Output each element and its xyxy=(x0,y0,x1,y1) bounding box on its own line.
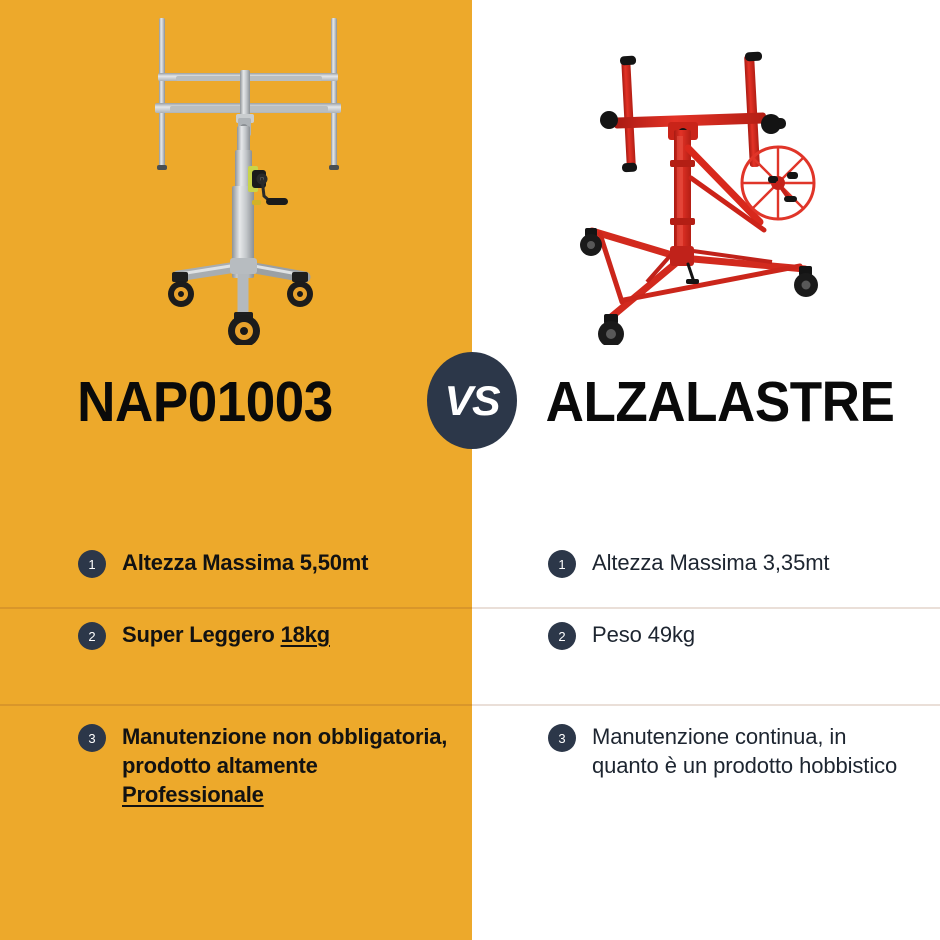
feature-number-badge: 3 xyxy=(548,724,576,752)
feature-cell-left: 3 Manutenzione non obbligatoria, prodott… xyxy=(78,722,458,809)
feature-text-underlined: 18kg xyxy=(281,622,330,647)
feature-cell-left: 1 Altezza Massima 5,50mt xyxy=(78,548,458,578)
feature-row: 3 Manutenzione non obbligatoria, prodott… xyxy=(0,722,940,842)
feature-row: 1 Altezza Massima 5,50mt 1 Altezza Massi… xyxy=(0,548,940,607)
winch-wheel xyxy=(742,147,814,219)
divider-segment-left xyxy=(0,607,472,609)
divider-segment-right xyxy=(472,704,940,706)
divider-segment-right xyxy=(472,607,940,609)
feature-number-badge: 1 xyxy=(78,550,106,578)
comparison-infographic: NAP01003 ALZALASTRE VS 1 Altezza Massima… xyxy=(0,0,940,940)
feature-cell-right: 1 Altezza Massima 3,35mt xyxy=(548,548,918,578)
feature-text-left: Super Leggero 18kg xyxy=(122,620,330,649)
feature-cell-left: 2 Super Leggero 18kg xyxy=(78,620,458,650)
divider-segment-left xyxy=(0,704,472,706)
feature-text-right: Manutenzione continua, in quanto è un pr… xyxy=(592,722,918,780)
feature-text-underlined: Professionale xyxy=(122,782,264,807)
feature-cell-right: 3 Manutenzione continua, in quanto è un … xyxy=(548,722,918,780)
left-product-title: NAP01003 xyxy=(14,358,395,446)
vs-badge: VS xyxy=(427,352,517,449)
feature-number-badge: 2 xyxy=(78,622,106,650)
feature-text-prefix: Manutenzione non obbligatoria, prodotto … xyxy=(122,724,447,778)
red-drywall-panel-lift-image xyxy=(472,0,940,345)
vs-label: VS xyxy=(444,377,499,425)
feature-number-badge: 3 xyxy=(78,724,106,752)
feature-text-left: Manutenzione non obbligatoria, prodotto … xyxy=(122,722,458,809)
feature-cell-right: 2 Peso 49kg xyxy=(548,620,918,650)
feature-text-prefix: Super Leggero xyxy=(122,622,281,647)
right-product-title: ALZALASTRE xyxy=(534,358,906,446)
feature-text-prefix: Altezza Massima 5,50mt xyxy=(122,550,368,575)
feature-divider-1 xyxy=(0,607,940,609)
feature-text-right: Altezza Massima 3,35mt xyxy=(592,548,829,577)
feature-row: 2 Super Leggero 18kg 2 Peso 49kg xyxy=(0,620,940,704)
feature-text-right: Peso 49kg xyxy=(592,620,695,649)
silver-drywall-panel-lift-image xyxy=(0,0,472,345)
feature-divider-2 xyxy=(0,704,940,706)
castor-front xyxy=(228,312,260,345)
castor-front-left xyxy=(598,314,624,345)
feature-number-badge: 2 xyxy=(548,622,576,650)
feature-number-badge: 1 xyxy=(548,550,576,578)
feature-text-left: Altezza Massima 5,50mt xyxy=(122,548,368,577)
